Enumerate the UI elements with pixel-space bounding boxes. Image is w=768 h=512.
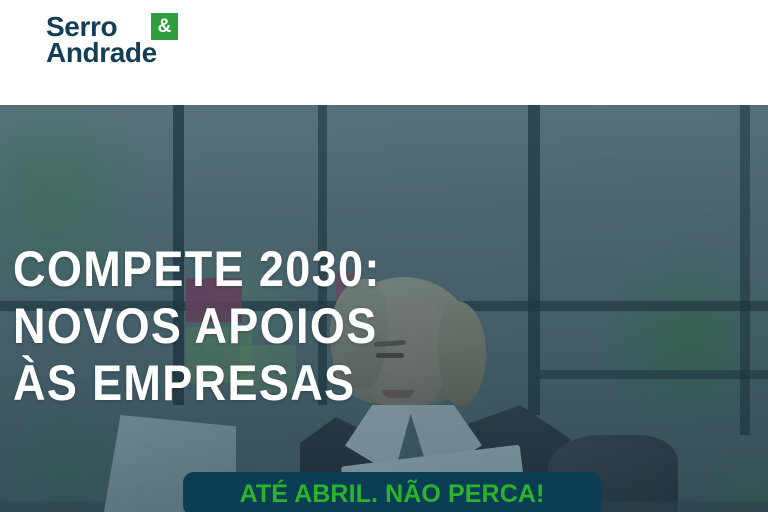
headline-line-1: COMPETE 2030: — [13, 241, 381, 298]
header-bar: Serro & Andrade — [0, 0, 768, 105]
hero-banner: COMPETE 2030: NOVOS APOIOS ÀS EMPRESAS A… — [0, 105, 768, 512]
brand-logo[interactable]: Serro & Andrade — [46, 11, 226, 73]
deadline-badge[interactable]: ATÉ ABRIL. NÃO PERCA! — [183, 472, 601, 512]
headline-line-3: ÀS EMPRESAS — [13, 355, 381, 412]
deadline-badge-label: ATÉ ABRIL. NÃO PERCA! — [240, 482, 545, 507]
hero-headline: COMPETE 2030: NOVOS APOIOS ÀS EMPRESAS — [13, 241, 422, 412]
ampersand-badge: & — [151, 13, 178, 40]
ampersand-glyph: & — [158, 17, 172, 36]
promo-poster: Serro & Andrade — [0, 0, 768, 512]
logo-line-andrade: Andrade — [46, 39, 157, 67]
headline-line-2: NOVOS APOIOS — [13, 298, 381, 355]
